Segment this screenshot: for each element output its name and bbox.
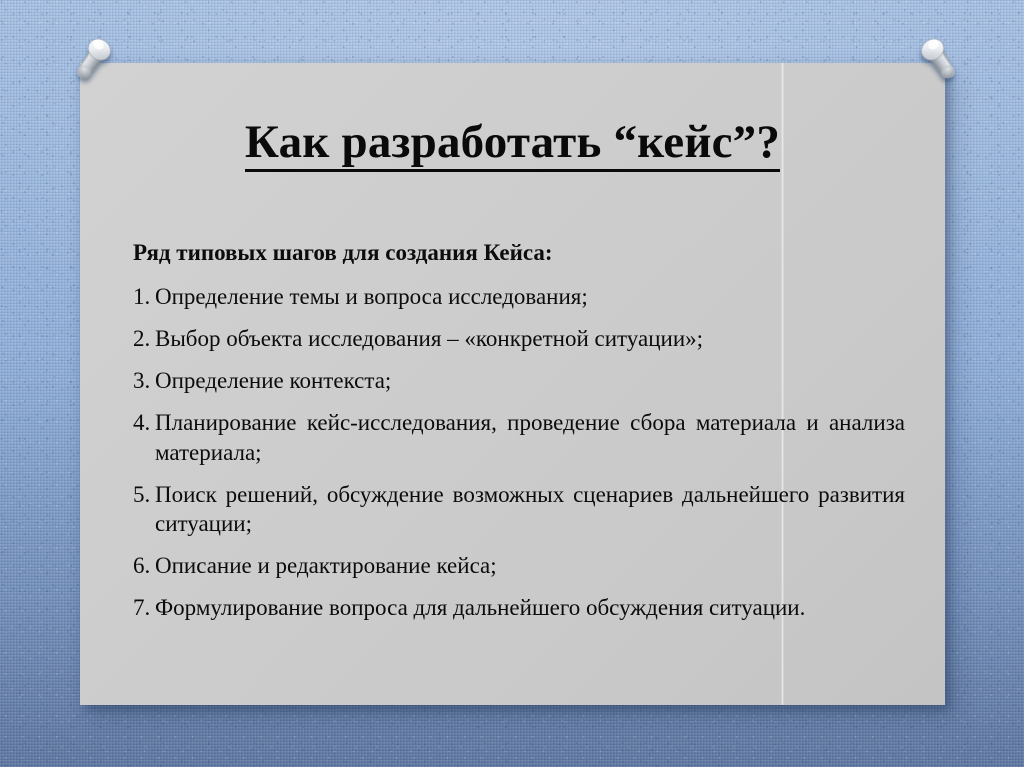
list-item-number: 4.	[133, 408, 150, 438]
list-item: 1. Определение темы и вопроса исследован…	[133, 282, 905, 312]
slide-content: Как разработать “кейс”? Ряд типовых шаго…	[80, 63, 945, 705]
list-item-text: Определение контекста;	[155, 368, 391, 393]
paper-sheet: Как разработать “кейс”? Ряд типовых шаго…	[80, 63, 945, 705]
list-item-number: 1.	[133, 282, 150, 312]
page-title-text: Как разработать “кейс”?	[245, 118, 780, 172]
list-item-text: Определение темы и вопроса исследования;	[155, 284, 588, 309]
list-item-text: Планирование кейс-исследования, проведен…	[155, 410, 905, 465]
list-item-number: 2.	[133, 324, 150, 354]
list-item-text: Описание и редактирование кейса;	[155, 553, 497, 578]
list-item: 3. Определение контекста;	[133, 366, 905, 396]
lead-paragraph: Ряд типовых шагов для создания Кейса:	[133, 239, 905, 266]
list-item: 5. Поиск решений, обсуждение возможных с…	[133, 480, 905, 540]
list-item-number: 7.	[133, 593, 150, 623]
list-item-text: Выбор объекта исследования – «конкретной…	[155, 326, 703, 351]
list-item: 2. Выбор объекта исследования – «конкрет…	[133, 324, 905, 354]
list-item-number: 5.	[133, 480, 150, 510]
slide-body: Ряд типовых шагов для создания Кейса: 1.…	[133, 239, 905, 635]
steps-list: 1. Определение темы и вопроса исследован…	[133, 282, 905, 623]
page-title: Как разработать “кейс”?	[80, 118, 945, 172]
list-item: 4. Планирование кейс-исследования, прове…	[133, 408, 905, 468]
list-item: 6. Описание и редактирование кейса;	[133, 551, 905, 581]
list-item: 7. Формулирование вопроса для дальнейшег…	[133, 593, 905, 623]
list-item-number: 6.	[133, 551, 150, 581]
slide: Как разработать “кейс”? Ряд типовых шаго…	[0, 0, 1024, 767]
list-item-text: Формулирование вопроса для дальнейшего о…	[155, 595, 805, 620]
list-item-number: 3.	[133, 366, 150, 396]
list-item-text: Поиск решений, обсуждение возможных сцен…	[155, 482, 905, 537]
